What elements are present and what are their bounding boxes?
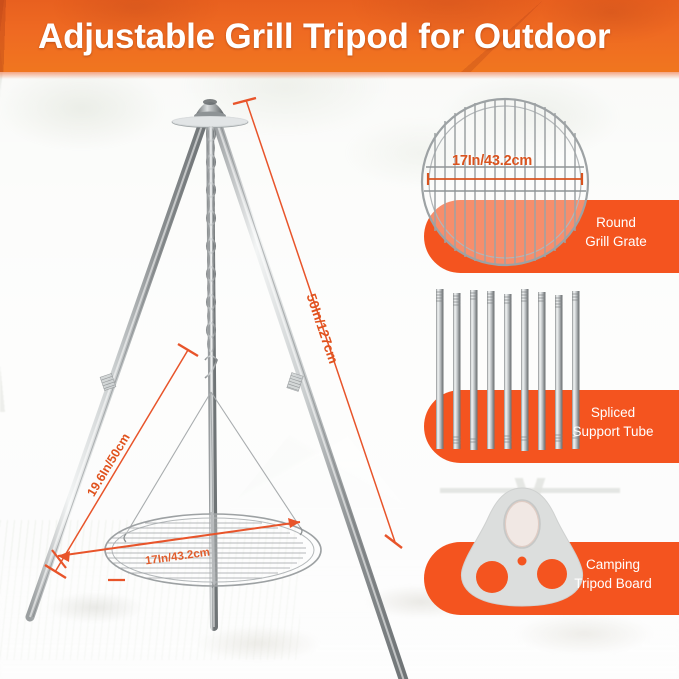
callout-label-line2: Support Tube: [548, 422, 678, 441]
callout-label-line2: Tripod Board: [546, 574, 679, 593]
tripod-legs: [30, 114, 408, 679]
product-infographic: Adjustable Grill Tripod for Outdoor: [0, 0, 679, 679]
callout-label-line2: Grill Grate: [560, 232, 672, 251]
callout-label-line1: Camping: [546, 555, 679, 574]
tripod-illustration: 50In/127cm 19.6In/50cm 17In/43.2cm: [0, 72, 420, 679]
callout-label-line1: Round: [560, 213, 672, 232]
callout-label-spliced-support-tube: Spliced Support Tube: [548, 403, 678, 441]
splice-collar: [100, 373, 303, 392]
callout-dimension-grate: 17In/43.2cm: [452, 153, 532, 169]
dimension-leg-label: 50In/127cm: [303, 292, 341, 366]
page-title: Adjustable Grill Tripod for Outdoor: [38, 0, 610, 72]
callout-label-line1: Spliced: [548, 403, 678, 422]
callout-label-camping-tripod-board: Camping Tripod Board: [546, 555, 679, 593]
callout-label-round-grill-grate: Round Grill Grate: [560, 213, 672, 251]
dimension-leg-length: 50In/127cm: [233, 98, 402, 548]
